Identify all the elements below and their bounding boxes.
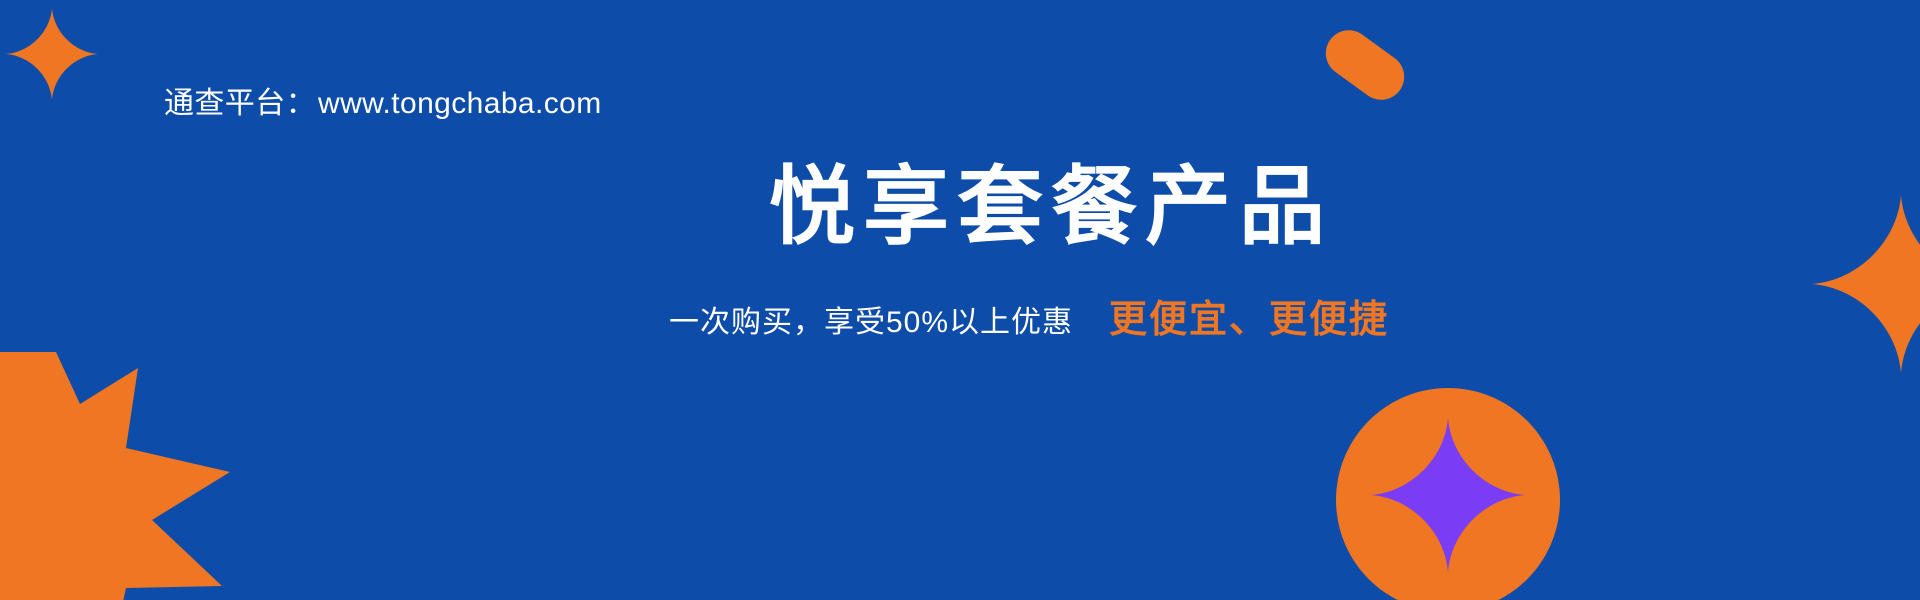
subtitle-line: 一次购买，享受50%以上优惠更便宜、更便捷	[0, 294, 1920, 347]
subtitle-plain-text: 一次购买，享受50%以上优惠	[669, 306, 1073, 339]
promo-banner: 通查平台：www.tongchaba.com 悦享套餐产品 一次购买，享受50%…	[0, 0, 1920, 600]
platform-line: 通查平台：www.tongchaba.com	[164, 84, 602, 123]
subtitle-accent-text: 更便宜、更便捷	[1109, 299, 1389, 341]
platform-label: 通查平台：	[164, 87, 316, 120]
banner-content: 通查平台：www.tongchaba.com 悦享套餐产品 一次购买，享受50%…	[0, 0, 1920, 600]
platform-url: www.tongchaba.com	[318, 87, 602, 120]
page-title: 悦享套餐产品	[0, 158, 1920, 257]
